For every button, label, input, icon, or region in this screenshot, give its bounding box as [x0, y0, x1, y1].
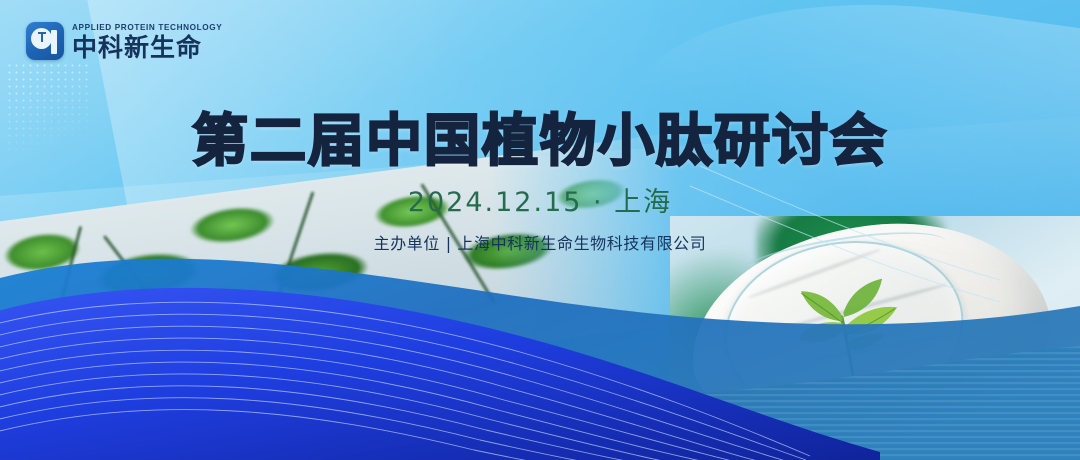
logo-text: APPLIED PROTEIN TECHNOLOGY 中科新生命 [72, 24, 222, 60]
conference-banner: APPLIED PROTEIN TECHNOLOGY 中科新生命 第二届中国植物… [0, 0, 1080, 460]
host-organization-text: 主办单位 | 上海中科新生命生物科技有限公司 [0, 230, 1080, 254]
company-logo[interactable]: APPLIED PROTEIN TECHNOLOGY 中科新生命 [26, 22, 222, 60]
logo-chinese-name: 中科新生命 [72, 35, 222, 60]
page-title: 第二届中国植物小肽研讨会 [0, 96, 1080, 177]
protein-logo-icon [26, 22, 64, 60]
date-location-text: 2024.12.15 · 上海 [0, 180, 1080, 219]
logo-english-tagline: APPLIED PROTEIN TECHNOLOGY [72, 24, 222, 32]
logo-glyph [38, 32, 46, 34]
logo-bar [51, 30, 57, 54]
